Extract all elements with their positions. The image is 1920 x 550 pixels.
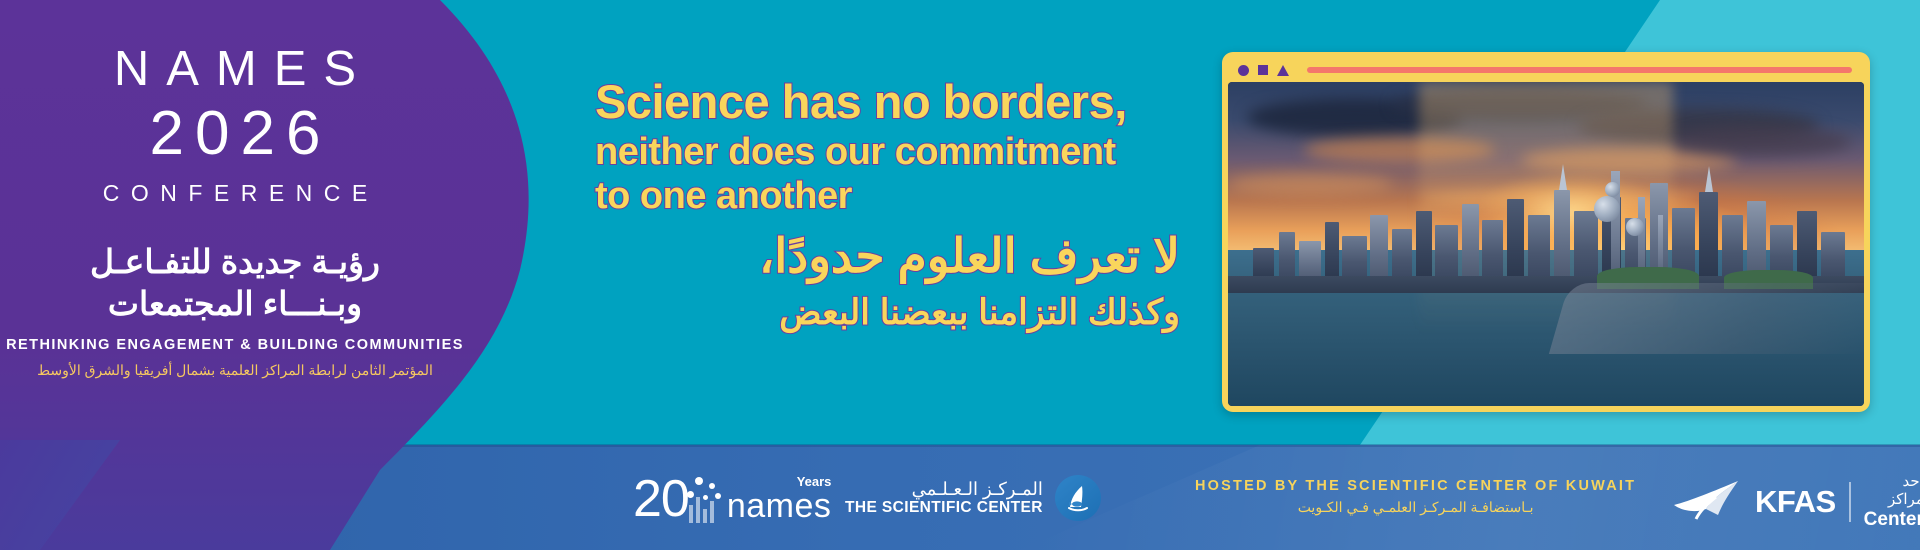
kfas-tagline: أحد مراكز Center bbox=[1864, 473, 1920, 532]
hosted-by-block: HOSTED BY THE SCIENTIFIC CENTER OF KUWAI… bbox=[1195, 478, 1636, 516]
theme-arabic-line2: وبـنـــاء المجتمعات bbox=[26, 283, 444, 326]
hosted-by-arabic: بـاستضافـة المـركـز العلمـي فـي الكـويت bbox=[1195, 499, 1636, 516]
subtitle-arabic: المؤتمر الثامن لرابطة المراكز العلمية بش… bbox=[0, 362, 470, 379]
theme-arabic-line1: رؤيـة جديدة للتفـاعـل bbox=[90, 243, 380, 280]
building bbox=[1435, 225, 1458, 283]
names-wordmark-group: Years names bbox=[727, 475, 832, 523]
brand-year: 2026 bbox=[0, 97, 470, 170]
theme-arabic: رؤيـة جديدة للتفـاعـل وبـنـــاء المجتمعا… bbox=[0, 241, 470, 327]
building bbox=[1370, 215, 1388, 283]
brand-kind: CONFERENCE bbox=[0, 180, 470, 207]
photo-browser-window bbox=[1222, 52, 1870, 412]
headline-block: Science has no borders, neither does our… bbox=[595, 78, 1215, 336]
sponsor-bar: 20 Years names المـركـز الـعـلـمي THE SC… bbox=[0, 445, 1920, 550]
headline-arabic-line1: لا تعرف العلوم حدودًا، bbox=[595, 227, 1180, 286]
square-icon bbox=[1258, 65, 1268, 75]
names-wordmark: names bbox=[727, 489, 832, 523]
building bbox=[1279, 232, 1296, 283]
coastal-road bbox=[1549, 283, 1864, 354]
brand-panel: NAMES 2026 CONFERENCE رؤيـة جديدة للتفـا… bbox=[0, 0, 470, 445]
kfas-tagline-english: Center bbox=[1864, 509, 1920, 532]
scientific-center-name-arabic: المـركـز الـعـلـمي bbox=[845, 479, 1043, 500]
headline-arabic: لا تعرف العلوم حدودًا، وكذلك التزامنا بب… bbox=[595, 227, 1180, 335]
names-2026-conference-banner: NAMES 2026 CONFERENCE رؤيـة جديدة للتفـا… bbox=[0, 0, 1920, 550]
building bbox=[1392, 229, 1412, 283]
scientific-center-text: المـركـز الـعـلـمي THE SCIENTIFIC CENTER bbox=[845, 479, 1043, 518]
tower-spire bbox=[1559, 164, 1567, 190]
building bbox=[1507, 199, 1525, 283]
names-20-years-logo: 20 Years names bbox=[633, 471, 831, 523]
triangle-icon bbox=[1277, 65, 1289, 76]
brand-wordmark: NAMES bbox=[0, 44, 470, 95]
address-bar bbox=[1307, 67, 1852, 73]
kfas-divider bbox=[1849, 482, 1851, 522]
city-skyline bbox=[1228, 166, 1864, 283]
building bbox=[1528, 215, 1550, 283]
headline-english: Science has no borders, neither does our… bbox=[595, 78, 1215, 215]
theme-english: RETHINKING ENGAGEMENT & BUILDING COMMUNI… bbox=[0, 337, 470, 353]
building bbox=[1574, 211, 1598, 283]
building bbox=[1482, 220, 1502, 283]
building bbox=[1699, 192, 1718, 283]
headline-english-line3: to one another bbox=[595, 177, 1215, 216]
tower-spire bbox=[1705, 166, 1713, 192]
window-title-bar bbox=[1228, 58, 1864, 82]
circle-icon bbox=[1238, 65, 1249, 76]
headline-english-line2: neither does our commitment bbox=[595, 133, 1215, 172]
kuwait-city-photo bbox=[1228, 82, 1864, 406]
building bbox=[1416, 211, 1431, 283]
building bbox=[1554, 190, 1571, 283]
building bbox=[1821, 232, 1845, 283]
kfas-tagline-arabic: أحد مراكز bbox=[1864, 473, 1920, 509]
kfas-wordmark: KFAS bbox=[1755, 484, 1836, 520]
building bbox=[1462, 204, 1479, 283]
building bbox=[1325, 222, 1339, 283]
scientific-center-name-english: THE SCIENTIFIC CENTER bbox=[845, 499, 1043, 517]
network-nodes-icon bbox=[679, 471, 725, 523]
kuwait-tower-sphere-upper bbox=[1605, 182, 1620, 197]
headline-arabic-line2: وكذلك التزامنا ببعضنا البعض bbox=[595, 290, 1180, 336]
dhow-sail-fish-icon bbox=[1055, 475, 1101, 521]
hosted-by-english: HOSTED BY THE SCIENTIFIC CENTER OF KUWAI… bbox=[1195, 478, 1636, 494]
kfas-logo: KFAS أحد مراكز Center bbox=[1672, 473, 1920, 532]
scientific-center-logo: المـركـز الـعـلـمي THE SCIENTIFIC CENTER bbox=[845, 475, 1101, 521]
cloud bbox=[1673, 127, 1851, 156]
headline-english-line1: Science has no borders, bbox=[595, 78, 1215, 126]
kfas-sail-icon bbox=[1672, 479, 1742, 526]
